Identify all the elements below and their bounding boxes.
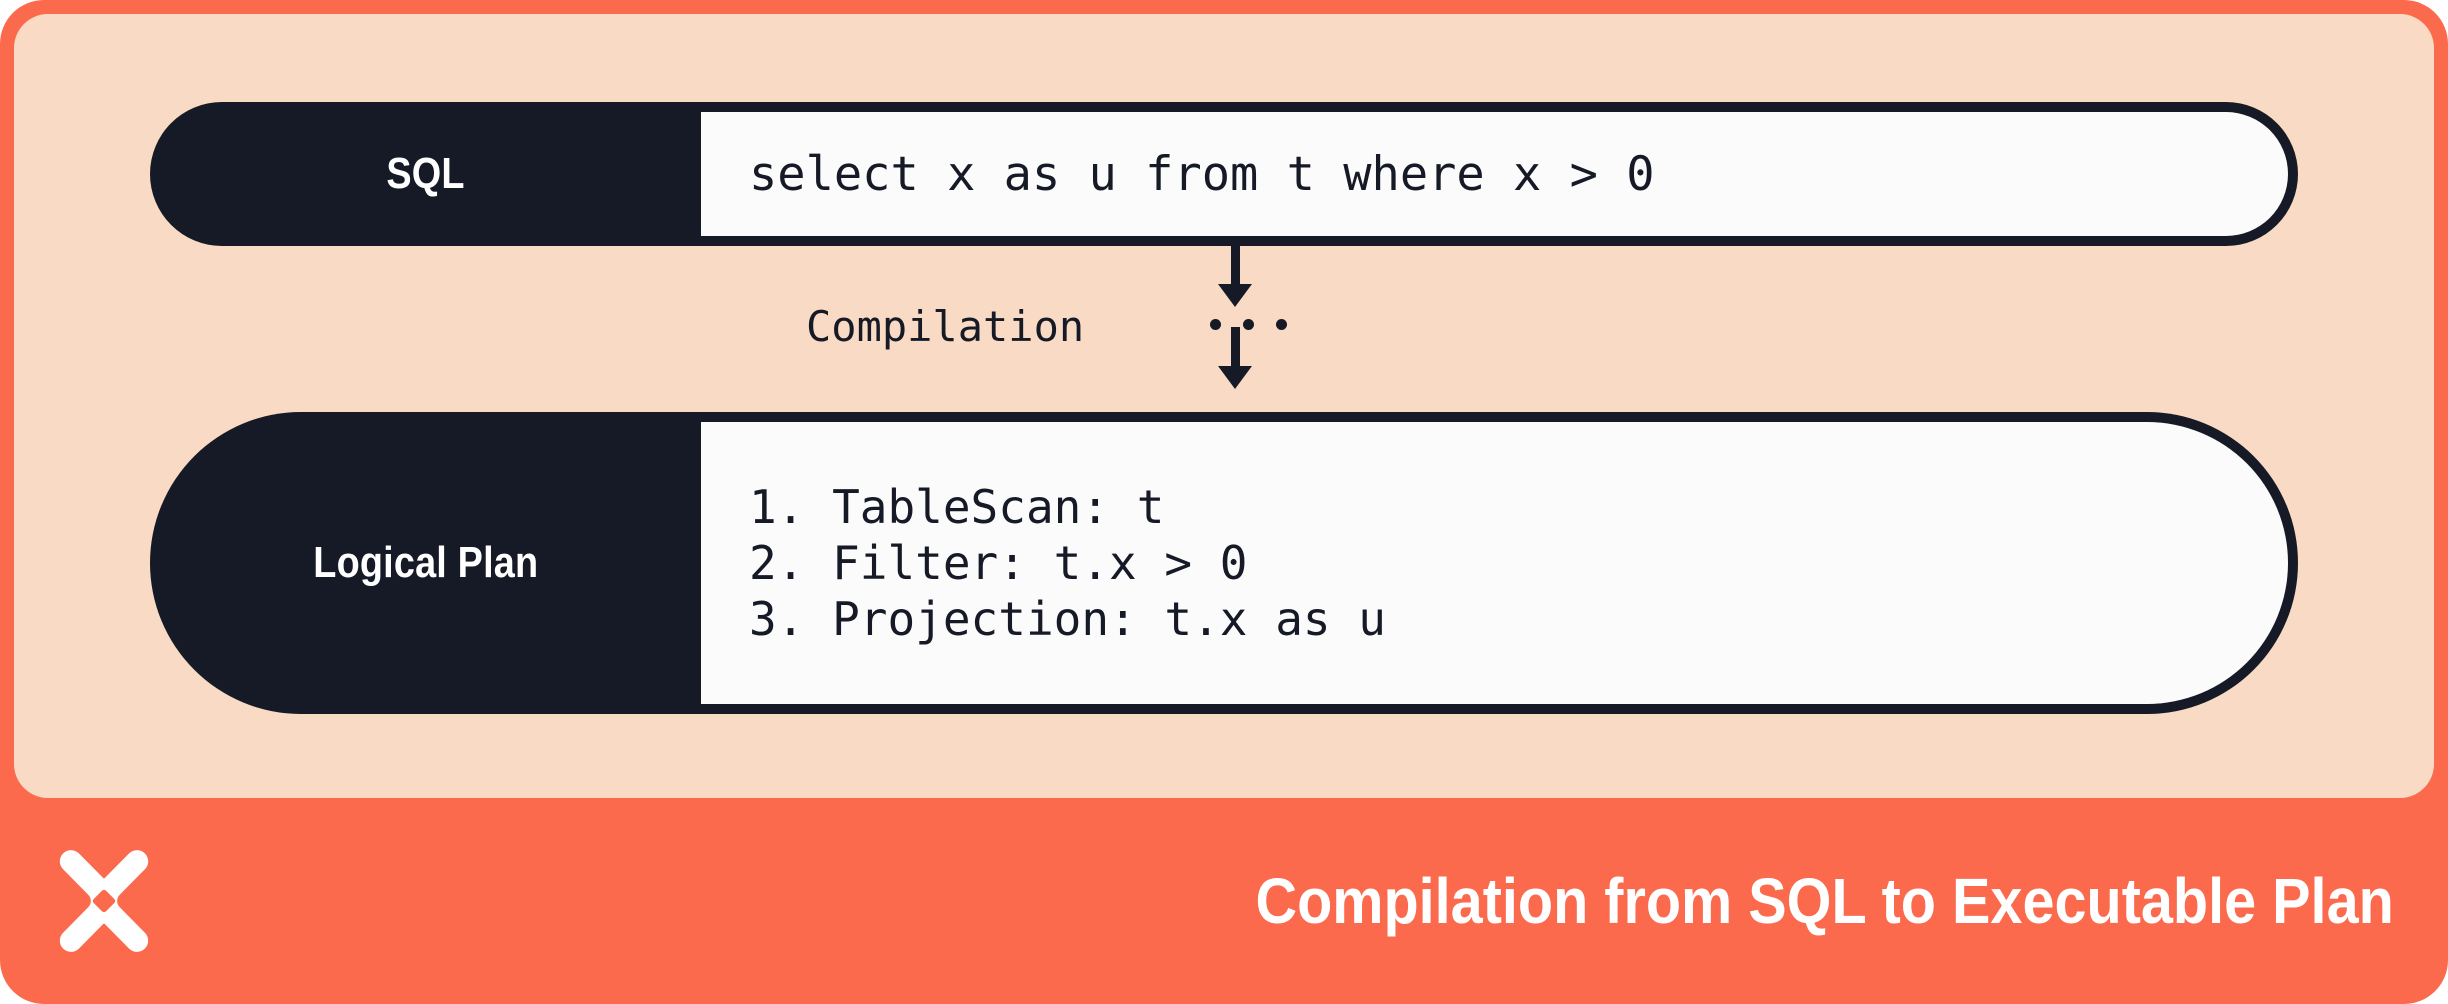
connector-label: Compilation xyxy=(806,302,1084,351)
code-panel-logical-plan: 1. TableScan: t 2. Filter: t.x > 0 3. Pr… xyxy=(699,412,2298,714)
poster-frame: SQL select x as u from t where x > 0 Com… xyxy=(0,0,2448,1004)
diagram-row-logical-plan: Logical Plan 1. TableScan: t 2. Filter: … xyxy=(150,412,2298,714)
row-label-sql: SQL xyxy=(150,102,701,246)
plan-step-2: 2. Filter: t.x > 0 xyxy=(699,540,2288,586)
code-panel-sql: select x as u from t where x > 0 xyxy=(699,102,2298,246)
arrow-down-icon-bottom xyxy=(1231,327,1240,368)
code-line-sql-0: select x as u from t where x > 0 xyxy=(699,151,2288,198)
plan-step-list: 1. TableScan: t 2. Filter: t.x > 0 3. Pr… xyxy=(699,468,2288,658)
four-pointed-star-logo-icon xyxy=(48,845,160,957)
ellipsis-dot-1 xyxy=(1210,319,1221,330)
ellipsis-dot-3 xyxy=(1276,319,1287,330)
footer-title: Compilation from SQL to Executable Plan xyxy=(1256,869,2394,933)
ellipsis-dots xyxy=(1210,319,1287,330)
row-label-logical-plan-text: Logical Plan xyxy=(313,541,538,585)
arrow-down-icon-top xyxy=(1231,246,1240,286)
row-label-logical-plan: Logical Plan xyxy=(150,412,701,714)
footer-bar: Compilation from SQL to Executable Plan xyxy=(0,798,2448,1004)
diagram-row-sql: SQL select x as u from t where x > 0 xyxy=(150,102,2298,246)
ellipsis-dot-2 xyxy=(1243,319,1254,330)
diagram-panel: SQL select x as u from t where x > 0 Com… xyxy=(14,14,2434,798)
row-label-sql-text: SQL xyxy=(386,152,464,196)
plan-step-3: 3. Projection: t.x as u xyxy=(699,596,2288,642)
plan-step-1: 1. TableScan: t xyxy=(699,484,2288,530)
